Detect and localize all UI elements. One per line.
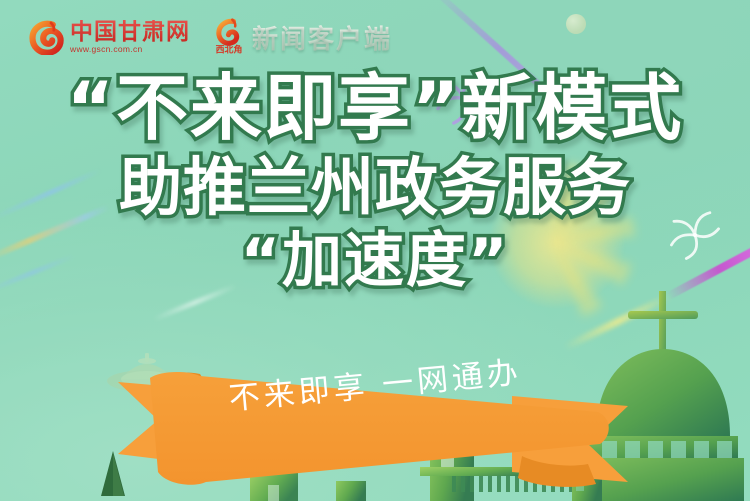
title-line-3: “加速度” bbox=[0, 231, 750, 291]
title-line-1: “不来即享”新模式 bbox=[0, 72, 750, 144]
ribbon-shape bbox=[0, 360, 750, 501]
ribbon-banner: 不来即享 一网通办 bbox=[0, 360, 750, 501]
gscn-title: 中国甘肃网 bbox=[70, 20, 190, 43]
svg-text:西北角: 西北角 bbox=[216, 44, 243, 55]
poster-title: “不来即享”新模式 助推兰州政务服务 “加速度” bbox=[0, 72, 750, 291]
header-logo-bar: 中国甘肃网 www.gscn.com.cn 西北角 新闻客户端 bbox=[28, 18, 392, 56]
title-line-2: 助推兰州政务服务 bbox=[0, 156, 750, 219]
gscn-flame-icon bbox=[28, 19, 64, 55]
logo-china-gansu-net[interactable]: 中国甘肃网 www.gscn.com.cn bbox=[28, 19, 190, 55]
poster-root: 中国甘肃网 www.gscn.com.cn 西北角 新闻客户端 bbox=[0, 0, 750, 501]
logo-northwest-corner[interactable]: 西北角 新闻客户端 bbox=[212, 18, 392, 56]
xbj-flame-badge-icon: 西北角 bbox=[212, 18, 246, 56]
xbj-news-title: 新闻客户端 bbox=[252, 19, 392, 56]
gscn-text-block: 中国甘肃网 www.gscn.com.cn bbox=[70, 20, 190, 54]
pale-dot-decoration bbox=[566, 14, 586, 34]
gscn-url: www.gscn.com.cn bbox=[70, 45, 143, 54]
